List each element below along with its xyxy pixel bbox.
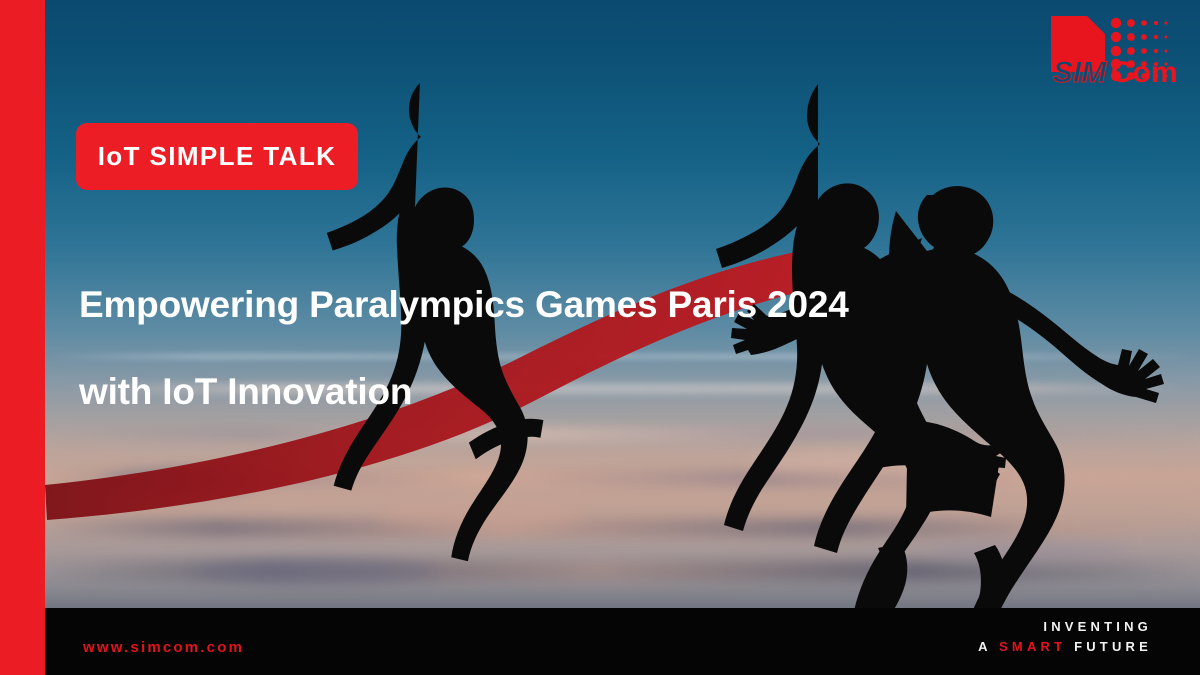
tagline-suffix: FUTURE [1066,639,1152,654]
left-red-accent-bar [0,0,45,675]
page-title: Empowering Paralympics Games Paris 2024 … [79,286,1019,410]
badge-label: IoT SIMPLE TALK [98,141,337,172]
tagline-line-1: INVENTING [978,617,1152,637]
brand-tagline: INVENTING A SMART FUTURE [978,617,1152,657]
simcom-logo: SIM Com [1049,14,1177,86]
tagline-prefix: A [978,639,999,654]
iot-simple-talk-badge: IoT SIMPLE TALK [76,123,358,190]
title-line-2: with IoT Innovation [79,373,1019,410]
title-line-1: Empowering Paralympics Games Paris 2024 [79,286,1019,323]
tagline-line-2: A SMART FUTURE [978,637,1152,657]
logo-text-com: Com [1111,56,1177,86]
website-url[interactable]: www.simcom.com [83,639,244,656]
tagline-smart: SMART [999,639,1066,654]
logo-text-sim: SIM [1053,56,1107,86]
poster-canvas: IoT SIMPLE TALK Empowering Paralympics G… [0,0,1200,675]
